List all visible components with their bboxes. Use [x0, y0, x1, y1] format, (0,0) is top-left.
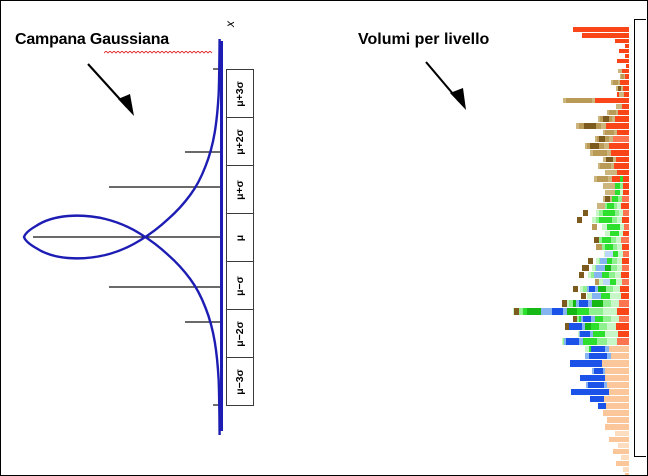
volume-bar [263, 123, 637, 129]
volume-bar [263, 130, 637, 135]
volume-bar [263, 231, 637, 236]
volume-bar [263, 461, 637, 466]
sigma-label: μ [234, 234, 246, 240]
volume-bar-segment [603, 279, 610, 285]
sigma-label-cell: μ−2σ [227, 310, 253, 358]
volume-bar [263, 49, 637, 53]
volume-bar-segment [613, 449, 629, 454]
volume-bar-segment [605, 251, 613, 257]
volume-bar-segment [625, 44, 629, 48]
volume-bar [263, 368, 637, 374]
gaussian-vertical-axis [220, 41, 223, 431]
volume-bar-segment [605, 170, 617, 175]
volume-bar [263, 375, 637, 381]
volume-bar [263, 403, 637, 409]
volume-bar [263, 80, 637, 85]
sigma-label-cell: μ−σ [227, 262, 253, 310]
volume-bar-segment [552, 308, 563, 315]
volume-bar [263, 69, 637, 73]
volume-bar-segment [615, 190, 620, 195]
volume-bar [263, 104, 637, 109]
volume-bar-segment [570, 360, 602, 367]
volume-bar [263, 157, 637, 162]
volume-bar-segment [609, 110, 616, 115]
volume-bar [263, 143, 637, 149]
volume-bar-segment [612, 196, 618, 202]
volume-bar [263, 244, 637, 250]
volume-bar-segment [592, 293, 601, 299]
volume-bar-segment [582, 265, 589, 271]
volume-bar-segment [573, 27, 629, 32]
volume-bar-segment [566, 98, 592, 103]
figure-canvas: Campana Gaussiana [0, 0, 648, 476]
sigma-label: μ+2σ [234, 129, 246, 155]
sigma-label-cell: μ+σ [227, 166, 253, 214]
volume-bar-segment [595, 279, 599, 285]
volume-bar-segment [609, 437, 629, 442]
volume-bar [263, 150, 637, 156]
volume-bar [263, 396, 637, 402]
volume-bar [263, 210, 637, 216]
volume-bar-segment [607, 224, 620, 230]
volume-bar-segment [625, 54, 629, 58]
volume-bar [263, 59, 637, 63]
sigma-label: μ−2σ [234, 321, 246, 347]
volume-bar-segment [581, 293, 586, 299]
volume-bar [263, 389, 637, 395]
volume-bar [263, 39, 637, 43]
volume-bar [263, 293, 637, 299]
volume-bar-segment [602, 237, 611, 243]
gaussian-axis-label: x [223, 21, 237, 27]
volume-bar-segment [605, 196, 610, 202]
volume-bar [263, 183, 637, 189]
volume-bar-segment [619, 49, 629, 53]
volume-bar-segment [583, 316, 591, 322]
volume-bar-segment [619, 92, 624, 97]
volume-bar [263, 265, 637, 271]
volume-bar-segment [584, 123, 596, 129]
volume-bar [263, 323, 637, 330]
volume-bar [263, 224, 637, 230]
volume-bar-segment [618, 86, 621, 91]
volume-bar-segment [565, 323, 569, 330]
gaussian-curve-plot [1, 39, 231, 435]
volume-bar-segment [599, 136, 605, 142]
volume-bar [263, 136, 637, 142]
volume-bar [263, 196, 637, 202]
volume-bar [263, 455, 637, 460]
volume-bar-segment [588, 382, 604, 388]
volume-bar-segment [621, 455, 629, 460]
volume-bar [263, 217, 637, 223]
volume-bar [263, 258, 637, 264]
volume-bar-segment [616, 461, 629, 466]
volume-bar-segment [562, 300, 567, 307]
volume-bar [263, 116, 637, 122]
volume-bar-segment [580, 375, 605, 381]
volume-bar-segment [590, 143, 599, 149]
volume-bar [263, 251, 637, 257]
sigma-label: μ−3σ [234, 369, 246, 395]
volume-bar-segment [582, 33, 629, 38]
volume-bar-segment [596, 244, 602, 250]
volume-bar-segment [615, 39, 629, 43]
volume-bar-segment [613, 80, 618, 85]
volume-bar-segment [618, 443, 629, 448]
volume-bar-segment [589, 346, 605, 352]
volume-bar [263, 382, 637, 388]
gaussian-panel: Campana Gaussiana [1, 1, 263, 475]
volume-bar [263, 176, 637, 182]
volume-bar-segment [621, 74, 624, 79]
volume-bar [263, 74, 637, 79]
volume-bar [263, 338, 637, 345]
volume-bar-segment [626, 64, 629, 68]
volume-bar [263, 272, 637, 278]
volume-bar [263, 449, 637, 454]
volume-bar-segment [600, 258, 607, 264]
volume-bar-segment [605, 130, 614, 135]
volume-bar-segment [615, 431, 629, 436]
volume-bar-segment [566, 338, 579, 345]
volume-bar-segment [577, 217, 582, 223]
volume-bar [263, 431, 637, 436]
volume-bar [263, 92, 637, 97]
volume-bar [263, 237, 637, 243]
volume-bar-segment [568, 323, 582, 330]
volume-bar-segment [603, 210, 615, 216]
sigma-label-cell: μ [227, 214, 253, 262]
volume-bar-segment [594, 237, 599, 243]
sigma-label-cell: μ+3σ [227, 70, 253, 118]
sigma-label: μ+σ [234, 180, 246, 200]
volume-bar [263, 64, 637, 68]
volume-bar [263, 300, 637, 307]
volume-bar-segment [620, 176, 623, 182]
volume-bar-segment [603, 116, 609, 122]
volume-bar-segment [583, 210, 588, 216]
volume-bar [263, 170, 637, 175]
volume-bar-segment [600, 163, 611, 169]
volume-bar [263, 353, 637, 359]
volume-bar-segment [589, 353, 607, 359]
volume-bar-segment [592, 224, 597, 230]
volume-bar-segment [599, 217, 612, 223]
volume-bar [263, 203, 637, 209]
volume-bar [263, 308, 637, 315]
volume-bar [263, 467, 637, 472]
volume-bar-segment [605, 244, 613, 250]
volume-bar [263, 286, 637, 292]
volume-bar-segment [579, 272, 584, 278]
volume-bar-segment [617, 59, 629, 63]
sigma-label-box: μ+3σ μ+2σ μ+σ μ μ−σ μ−2σ μ−3σ [226, 69, 254, 406]
volume-bar-segment [597, 176, 608, 182]
volume-bar-segment [597, 203, 605, 209]
volume-bar [263, 54, 637, 58]
volume-bar-segment [588, 258, 593, 264]
volume-bar-segment [623, 467, 629, 472]
volume-bar-segment [590, 396, 604, 402]
volume-bar [263, 360, 637, 367]
volume-bar-segment [593, 150, 607, 156]
volume-bar-segment [514, 308, 519, 315]
volume-bar [263, 417, 637, 423]
volume-bar-segment [596, 265, 605, 271]
volume-bar [263, 86, 637, 91]
volume-bar-segment [603, 410, 629, 416]
volume-bar-segment [616, 104, 622, 109]
volume-bar [263, 410, 637, 416]
volume-bar [263, 163, 637, 169]
volume-profile-panel: Volumi per livello [263, 1, 647, 475]
volume-histogram [263, 23, 637, 453]
volume-bar-segment [589, 286, 595, 292]
volume-bar-segment [603, 183, 615, 189]
volume-bar [263, 443, 637, 448]
sigma-label: μ−σ [234, 276, 246, 296]
volume-bar [263, 110, 637, 115]
volume-bar [263, 33, 637, 38]
volume-bar [263, 44, 637, 48]
volume-bar-segment [607, 417, 629, 423]
volume-bar-segment [579, 300, 588, 307]
volume-bar [263, 190, 637, 195]
volume-bar-segment [571, 389, 609, 395]
volume-bar [263, 316, 637, 322]
volume-bar-segment [605, 190, 615, 195]
clipped-footer-text: — — — [259, 456, 319, 465]
volume-bar [263, 437, 637, 442]
volume-bar [263, 279, 637, 285]
price-axis-frame [634, 19, 646, 457]
volume-bar-segment [607, 203, 614, 209]
volume-bar-segment [618, 69, 622, 73]
volume-bar [263, 98, 637, 103]
volume-bar [263, 346, 637, 352]
sigma-label-cell: μ−3σ [227, 358, 253, 405]
volume-bar-segment [605, 424, 629, 430]
volume-bar-segment [594, 368, 603, 374]
volume-bar [263, 424, 637, 430]
sigma-label: μ+3σ [234, 81, 246, 107]
volume-bar-segment [573, 316, 577, 322]
volume-bar-segment [594, 272, 602, 278]
volume-bar [263, 27, 637, 32]
volume-bar-segment [598, 403, 606, 409]
volume-bar-segment [606, 157, 613, 162]
sigma-label-cell: μ+2σ [227, 118, 253, 166]
volume-bar-segment [580, 331, 590, 337]
volume-bar-segment [573, 286, 578, 292]
volume-bar-segment [610, 231, 619, 236]
volume-bar [263, 331, 637, 337]
volume-bar-segment [585, 346, 589, 352]
